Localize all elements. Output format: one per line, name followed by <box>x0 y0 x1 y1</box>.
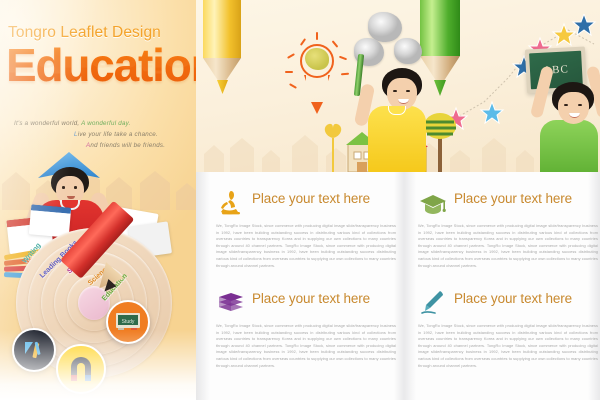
bulb-crumpled-paper <box>305 48 329 70</box>
content-area: Place your text here We, TongRo Image St… <box>196 172 600 400</box>
brochure-panel: ABC <box>196 0 600 400</box>
script-line-3-b: nd friends will be friends. <box>90 142 165 149</box>
script-line-2-b: ive your life take a chance. <box>78 131 158 138</box>
boy-green-shirt-photo <box>534 72 600 172</box>
svg-text:Study: Study <box>122 319 135 325</box>
photo-band: ABC <box>196 0 600 172</box>
content-panel-4: Place your text here We, TongRo Image St… <box>418 284 598 369</box>
content-panel-1: Place your text here We, TongRo Image St… <box>216 184 396 269</box>
cover-title: Education <box>6 38 196 92</box>
eye-left <box>62 186 65 189</box>
pencil-tip <box>217 80 228 94</box>
microscope-icon <box>216 188 246 218</box>
green-shirt <box>540 120 598 172</box>
script-line-1-b: A wonderful day. <box>81 120 130 127</box>
lightbulb-doodle <box>288 38 346 116</box>
panel-title: Place your text here <box>454 184 598 214</box>
script-line-3: And friends will be friends. <box>86 142 165 149</box>
content-panel-3: Place your text here We, TongRo Image St… <box>216 284 396 369</box>
face <box>558 92 589 124</box>
eye-right <box>74 186 77 189</box>
pencil-wood <box>90 262 124 296</box>
graduation-cap-icon <box>418 188 448 218</box>
panel-body: We, TongRo Image Stock, since commerce w… <box>418 323 598 369</box>
leaflet-canvas: Tongro Leaflet Design Education Educatio… <box>0 0 600 400</box>
cover-panel: Tongro Leaflet Design Education Educatio… <box>0 0 196 400</box>
panel-body: We, TongRo Image Stock, since commerce w… <box>216 323 396 369</box>
script-line-1: It's a wonderful world, A wonderful day. <box>14 120 131 127</box>
crumpled-paper-ball <box>368 12 402 42</box>
crumpled-paper-ball <box>394 38 422 64</box>
script-line-2: Live your life take a chance. <box>74 131 158 138</box>
content-panel-2: Place your text here We, TongRo Image St… <box>418 184 598 269</box>
fold-shadow-left <box>196 172 210 400</box>
stacked-books-icon <box>216 288 246 318</box>
cover-bottom-fade <box>0 330 196 400</box>
fold-shadow-center <box>394 172 416 400</box>
pencil-shaft <box>203 0 241 58</box>
boy-yellow-shirt-photo <box>360 66 434 172</box>
pencil-wood <box>203 58 241 82</box>
fountain-pen-icon <box>418 288 448 318</box>
pencil-tip <box>434 80 446 96</box>
yellow-pencil <box>203 0 241 94</box>
yellow-shirt <box>368 106 426 172</box>
red-pencil-large <box>88 212 184 308</box>
panel-title: Place your text here <box>454 284 598 314</box>
script-line-1-a: It's a wonderful world, <box>14 120 81 127</box>
panel-body: We, TongRo Image Stock, since commerce w… <box>418 223 598 269</box>
arm-left-raised <box>530 65 554 118</box>
bulb-base <box>304 75 330 105</box>
panel-title: Place your text here <box>252 284 396 314</box>
panel-title: Place your text here <box>252 184 396 214</box>
panel-body: We, TongRo Image Stock, since commerce w… <box>216 223 396 269</box>
